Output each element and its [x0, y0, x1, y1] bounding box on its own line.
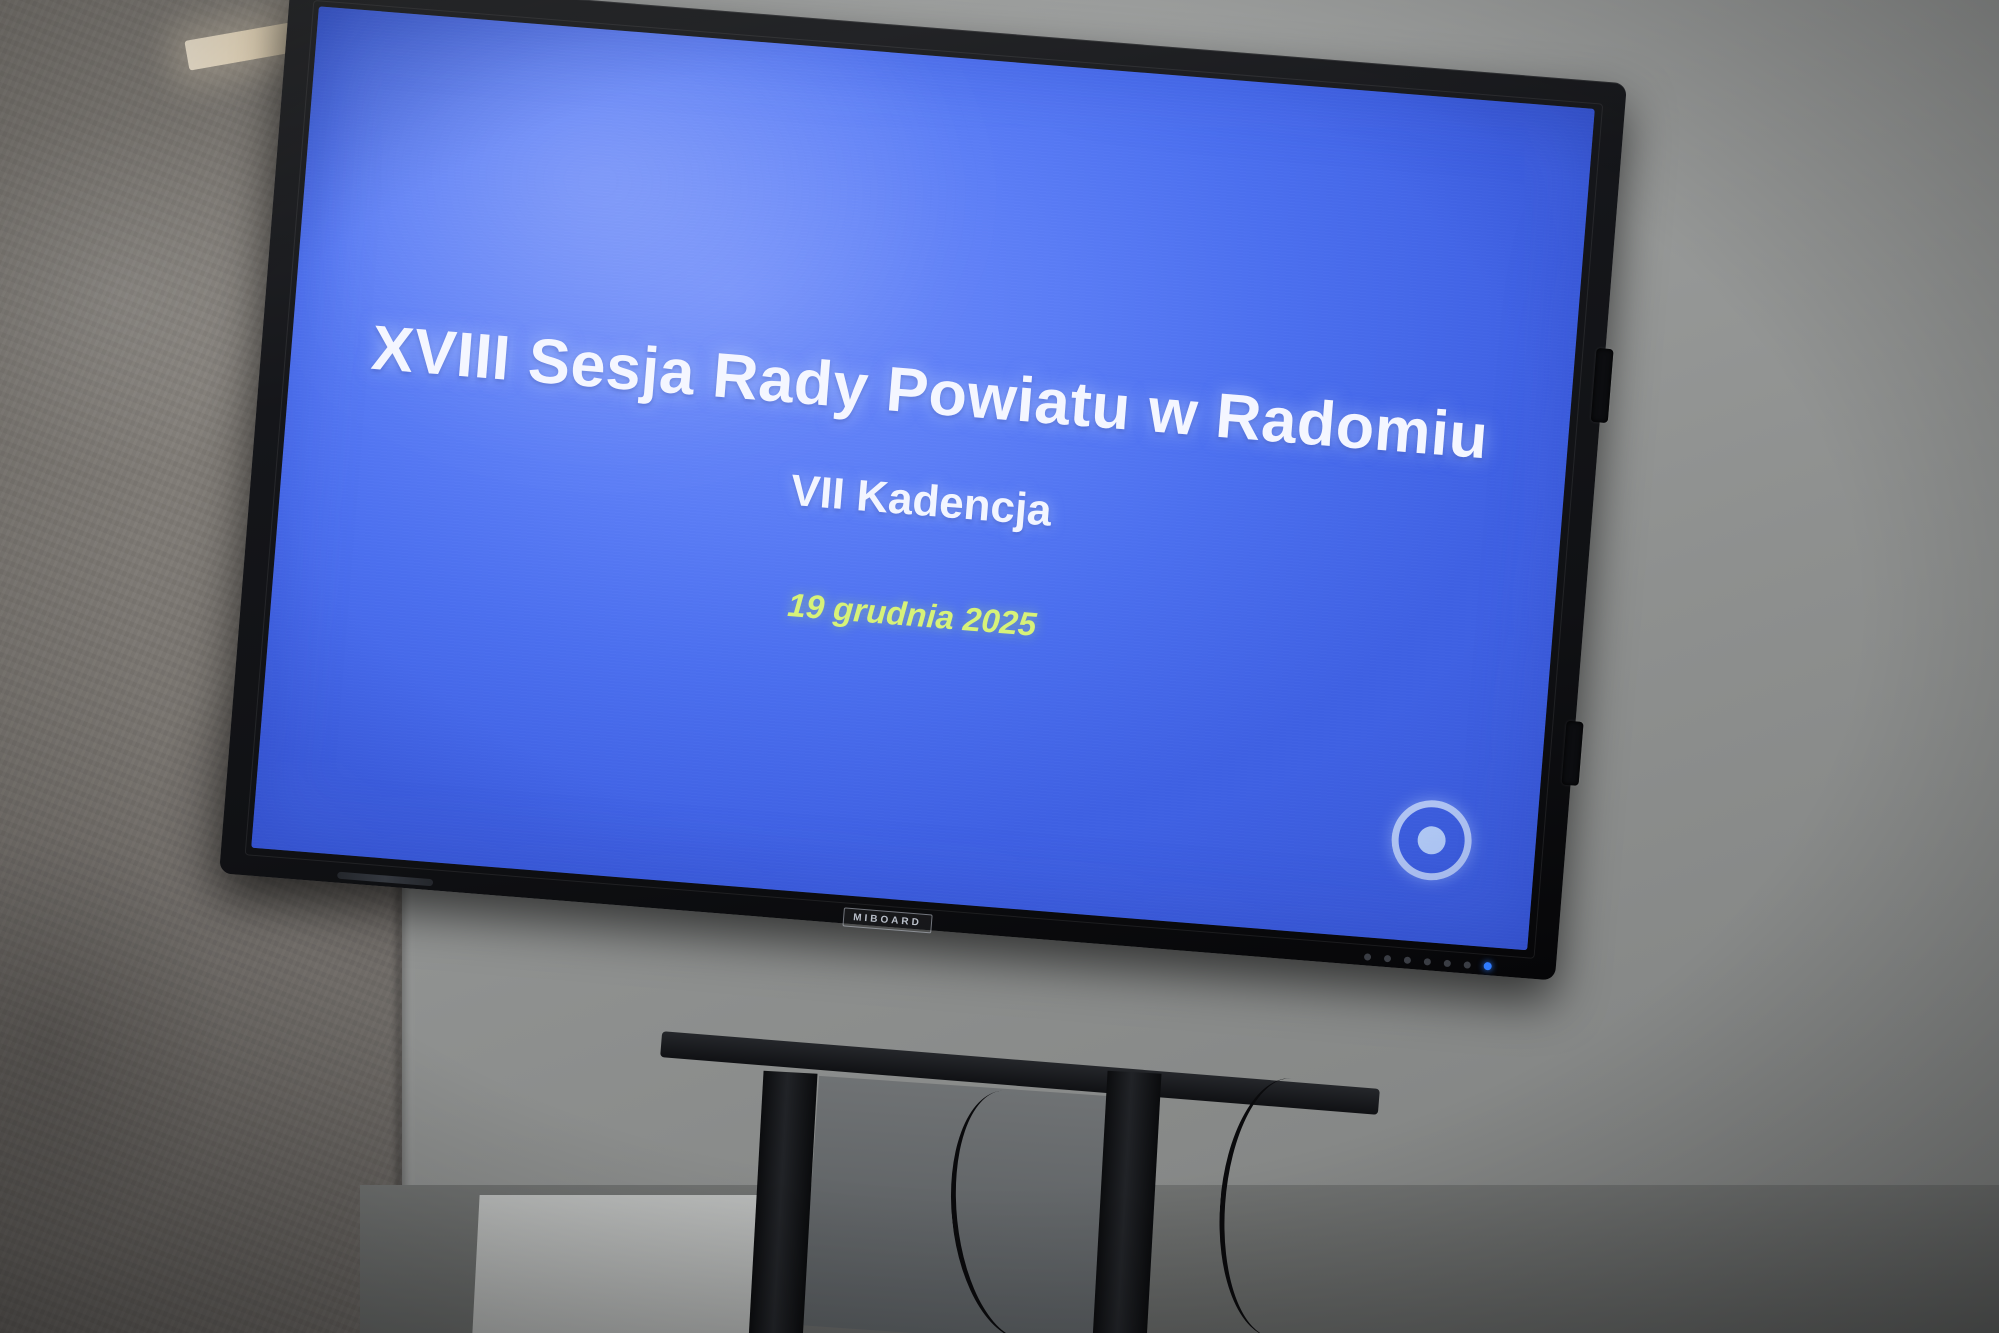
brand-logo: MIBOARD: [842, 907, 932, 933]
bezel-key-row[interactable]: [1364, 952, 1492, 970]
bezel-key-5[interactable]: [1444, 959, 1452, 967]
floating-toolbar-dot-icon: [1417, 825, 1447, 855]
power-led-icon: [1483, 962, 1492, 971]
interactive-display[interactable]: XVIII Sesja Rady Powiatu w Radomiu VII K…: [203, 0, 1627, 1180]
ir-sensor-bar: [337, 872, 433, 887]
presentation-slide: XVIII Sesja Rady Powiatu w Radomiu VII K…: [251, 6, 1595, 950]
slide-date: 19 grudnia 2025: [273, 545, 1552, 686]
bezel-key-6[interactable]: [1464, 961, 1472, 969]
bezel-key-4[interactable]: [1424, 958, 1432, 966]
bezel-key-2[interactable]: [1384, 954, 1392, 962]
display-bezel: XVIII Sesja Rady Powiatu w Radomiu VII K…: [219, 0, 1627, 981]
screenshot-root: XVIII Sesja Rady Powiatu w Radomiu VII K…: [0, 0, 1999, 1333]
bezel-key-1[interactable]: [1364, 953, 1372, 961]
bezel-key-3[interactable]: [1404, 956, 1412, 964]
display-screen[interactable]: XVIII Sesja Rady Powiatu w Radomiu VII K…: [251, 6, 1595, 950]
